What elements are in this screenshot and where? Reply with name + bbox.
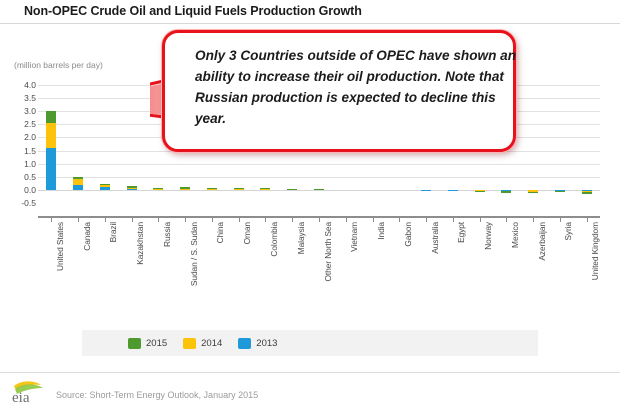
x-axis-label: China	[215, 222, 225, 243]
bar-column[interactable]	[448, 85, 458, 203]
y-axis-tick-label: 1.0	[2, 159, 36, 169]
bar-segment-2015	[207, 188, 217, 189]
y-axis-labels: 4.03.53.02.52.01.51.00.50.0-0.5	[0, 0, 36, 414]
bar-column[interactable]	[100, 85, 110, 203]
bar-series-container	[38, 85, 600, 203]
x-axis-label: Azerbaijan	[537, 222, 547, 261]
chart-page: Non-OPEC Crude Oil and Liquid Fuels Prod…	[0, 0, 620, 414]
bar-segment-2013	[100, 187, 110, 190]
bar-column[interactable]	[127, 85, 137, 203]
bar-segment-2015	[555, 191, 565, 192]
x-axis-label: United States	[55, 222, 65, 271]
legend-label: 2013	[256, 338, 277, 349]
bar-segment-2015	[582, 192, 592, 194]
bar-column[interactable]	[582, 85, 592, 203]
y-axis-tick-label: 1.5	[2, 146, 36, 156]
svg-text:eia: eia	[12, 390, 30, 405]
bar-column[interactable]	[368, 85, 378, 203]
y-axis-tick-label: -0.5	[2, 198, 36, 208]
x-axis-label: Gabon	[403, 222, 413, 247]
bar-segment-2015	[100, 184, 110, 185]
x-axis-label: Norway	[483, 222, 493, 250]
bar-segment-2013	[207, 189, 217, 190]
y-axis-tick-label: 0.5	[2, 172, 36, 182]
bar-column[interactable]	[234, 85, 244, 203]
bar-column[interactable]	[260, 85, 270, 203]
x-axis-label: India	[376, 222, 386, 240]
title-divider	[0, 23, 620, 24]
bar-column[interactable]	[501, 85, 511, 203]
x-axis-label: Egypt	[456, 222, 466, 243]
y-axis-tick-label: 3.0	[2, 106, 36, 116]
bar-segment-2014	[207, 189, 217, 190]
bar-segment-2015	[127, 186, 137, 188]
bar-column[interactable]	[180, 85, 190, 203]
x-axis-label: Sudan / S. Sudan	[189, 222, 199, 286]
bar-segment-2015	[180, 187, 190, 189]
x-axis-label: Canada	[82, 222, 92, 251]
bar-segment-2014	[180, 189, 190, 190]
bar-column[interactable]	[394, 85, 404, 203]
y-axis-tick-label: 4.0	[2, 80, 36, 90]
bar-segment-2014	[46, 123, 56, 148]
x-axis-label: Kazakhstan	[135, 222, 145, 265]
bar-segment-2015	[234, 188, 244, 189]
bar-column[interactable]	[287, 85, 297, 203]
x-axis-label: Russia	[162, 222, 172, 247]
x-axis-label: Other North Sea	[323, 222, 333, 281]
x-axis-label: United Kingdom	[590, 222, 600, 280]
x-axis-labels: United StatesCanadaBrazilKazakhstanRussi…	[38, 222, 600, 327]
bar-segment-2015	[153, 188, 163, 189]
x-axis-label: Oman	[242, 222, 252, 244]
bar-segment-2014	[73, 179, 83, 184]
bar-segment-2013	[234, 189, 244, 190]
bar-segment-2015	[528, 192, 538, 193]
bar-segment-2013	[448, 190, 458, 191]
legend-item[interactable]: 2015	[128, 338, 167, 349]
bar-segment-2014	[100, 185, 110, 186]
bar-column[interactable]	[555, 85, 565, 203]
legend-items: 201520142013	[128, 336, 286, 350]
bar-segment-2015	[501, 191, 511, 193]
x-axis-label: Malaysia	[296, 222, 306, 254]
bar-column[interactable]	[207, 85, 217, 203]
bar-column[interactable]	[341, 85, 351, 203]
bar-segment-2013	[314, 189, 324, 190]
bar-segment-2015	[260, 188, 270, 189]
bar-segment-2014	[234, 189, 244, 190]
bar-segment-2013	[46, 148, 56, 190]
bar-column[interactable]	[153, 85, 163, 203]
bar-segment-2015	[46, 111, 56, 123]
y-axis-tick-label: 2.5	[2, 119, 36, 129]
legend-label: 2014	[201, 338, 222, 349]
bar-segment-2013	[127, 189, 137, 190]
legend-item[interactable]: 2013	[238, 338, 277, 349]
bar-segment-2013	[421, 190, 431, 191]
bar-segment-2013	[153, 189, 163, 190]
bar-segment-2014	[260, 189, 270, 190]
bar-column[interactable]	[421, 85, 431, 203]
bar-segment-2015	[475, 191, 485, 192]
legend-item[interactable]: 2014	[183, 338, 222, 349]
bar-column[interactable]	[314, 85, 324, 203]
bar-segment-2015	[314, 189, 324, 190]
bar-segment-2014	[127, 188, 137, 189]
bar-segment-2014	[153, 189, 163, 190]
bar-column[interactable]	[46, 85, 56, 203]
legend-label: 2015	[146, 338, 167, 349]
legend-swatch-icon	[128, 338, 141, 349]
legend-swatch-icon	[238, 338, 251, 349]
eia-logo-icon: eia	[10, 379, 50, 405]
source-text: Source: Short-Term Energy Outlook, Janua…	[56, 390, 258, 400]
footer-divider	[0, 372, 620, 373]
legend-swatch-icon	[183, 338, 196, 349]
bar-column[interactable]	[475, 85, 485, 203]
bar-segment-2013	[73, 185, 83, 190]
chart-legend: 201520142013	[82, 330, 538, 356]
bar-segment-2015	[287, 189, 297, 190]
bar-segment-2015	[73, 177, 83, 180]
x-axis-label: Vietnam	[349, 222, 359, 252]
bar-column[interactable]	[528, 85, 538, 203]
y-axis-tick-label: 0.0	[2, 185, 36, 195]
x-axis-label: Colombia	[269, 222, 279, 257]
x-axis-label: Brazil	[108, 222, 118, 242]
bar-column[interactable]	[73, 85, 83, 203]
x-axis-label: Australia	[430, 222, 440, 254]
y-axis-tick-label: 2.0	[2, 132, 36, 142]
y-axis-tick-label: 3.5	[2, 93, 36, 103]
x-axis-label: Mexico	[510, 222, 520, 248]
page-title: Non-OPEC Crude Oil and Liquid Fuels Prod…	[24, 4, 362, 18]
x-axis-label: Syria	[563, 222, 573, 241]
